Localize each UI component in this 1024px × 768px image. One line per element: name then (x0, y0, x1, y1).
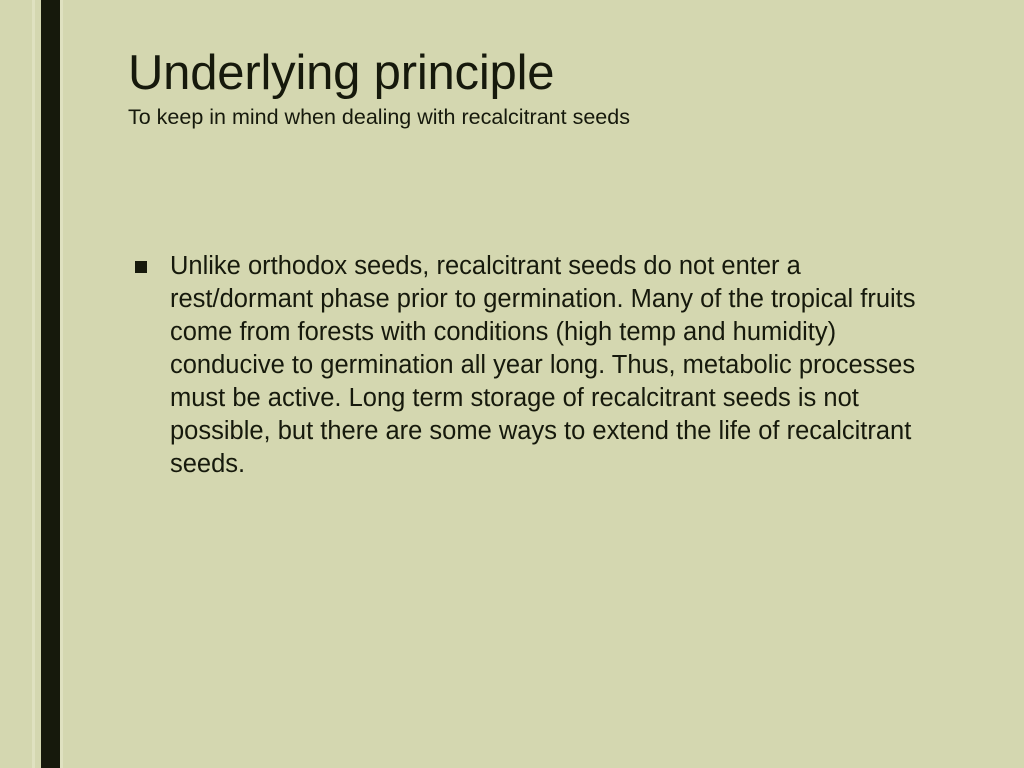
accent-stripe-light-right (60, 0, 63, 768)
slide-header: Underlying principle To keep in mind whe… (128, 44, 988, 130)
page-title: Underlying principle (128, 44, 988, 102)
left-accent-bar (41, 0, 60, 768)
accent-stripe-light-left (32, 0, 35, 768)
list-item: Unlike orthodox seeds, recalcitrant seed… (133, 250, 933, 481)
square-bullet-icon (135, 261, 147, 273)
slide-subtitle: To keep in mind when dealing with recalc… (128, 104, 988, 130)
list-item-label: Unlike orthodox seeds, recalcitrant seed… (170, 250, 930, 481)
slide-canvas: Underlying principle To keep in mind whe… (0, 0, 1024, 768)
slide-body: Unlike orthodox seeds, recalcitrant seed… (133, 250, 933, 481)
